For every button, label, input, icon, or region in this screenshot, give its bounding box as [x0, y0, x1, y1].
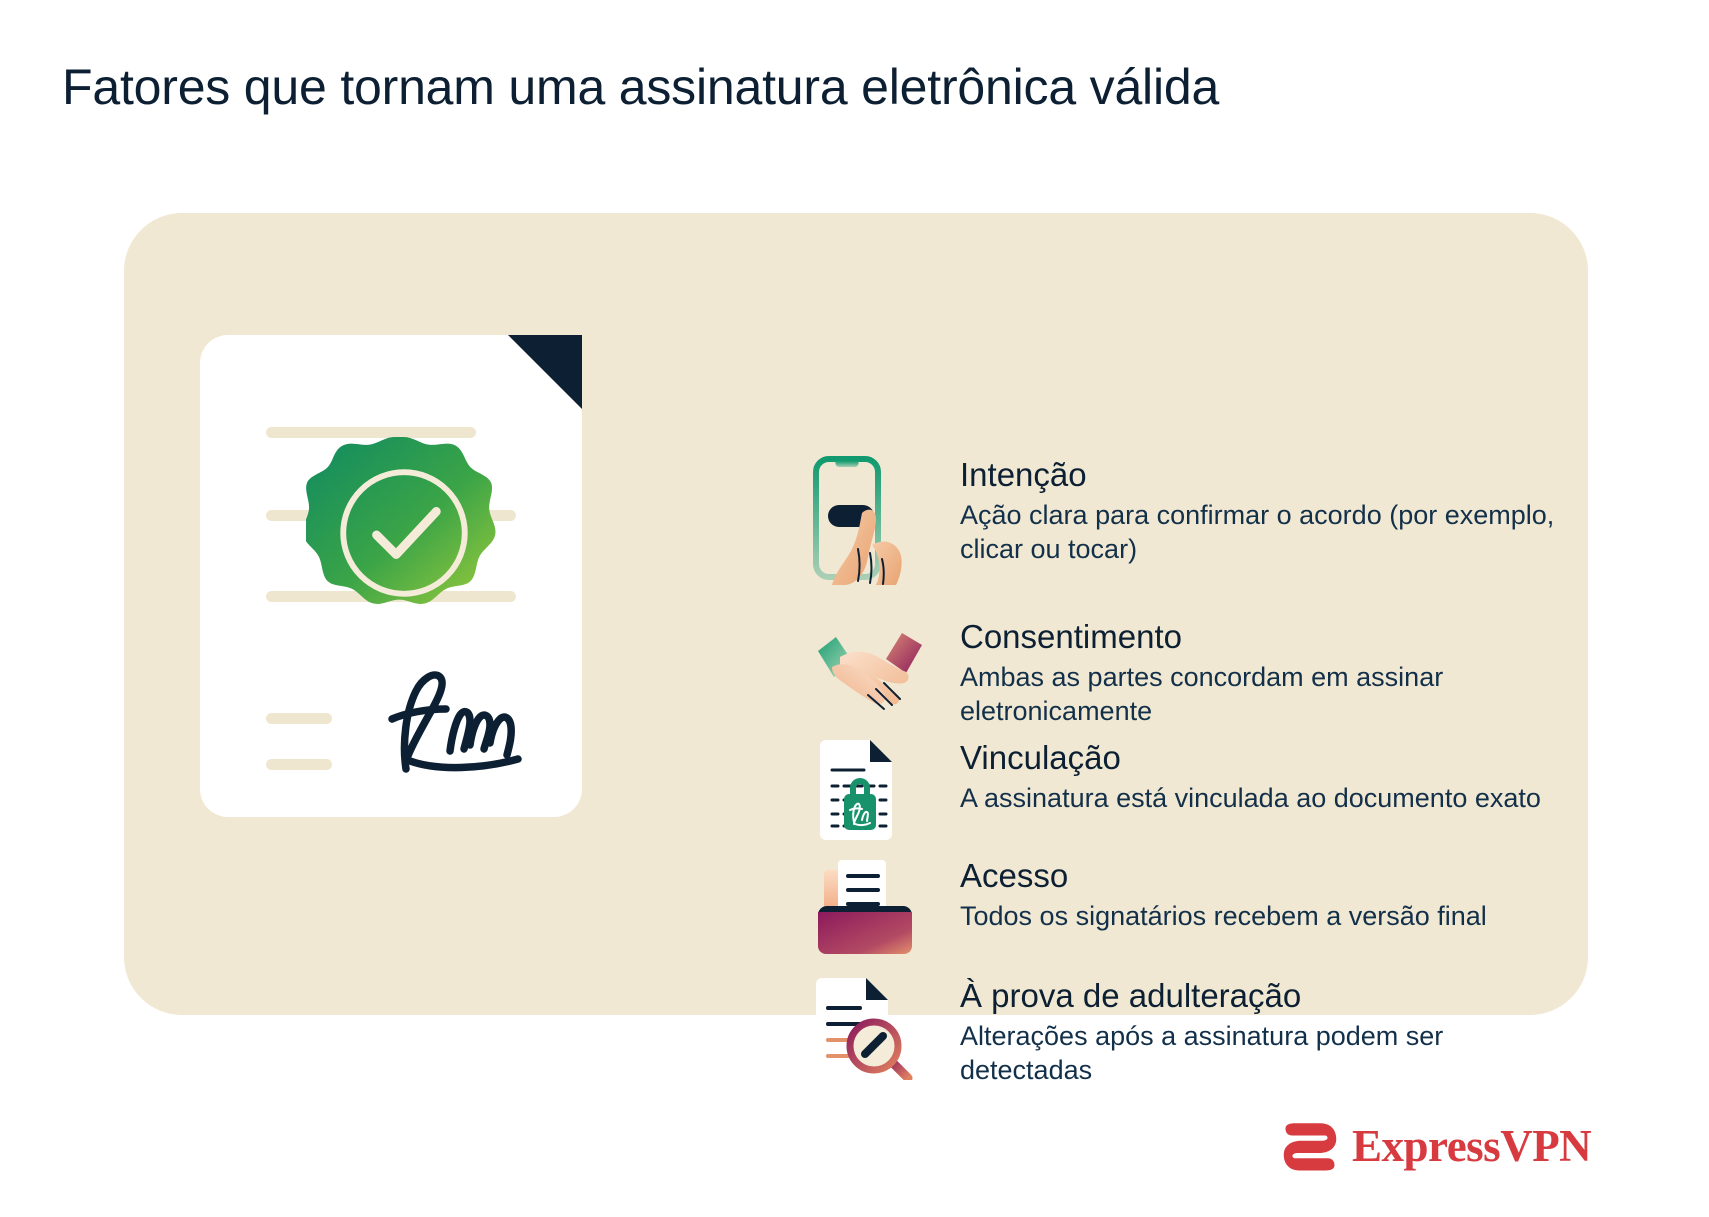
page-title: Fatores que tornam uma assinatura eletrô… — [62, 58, 1219, 116]
expressvpn-wordmark: ExpressVPN — [1352, 1124, 1591, 1169]
feature-item-acesso: Acesso Todos os signatários recebem a ve… — [810, 854, 1590, 964]
feature-title: À prova de adulteração — [960, 978, 1590, 1015]
feature-item-a-prova-de-adulteracao: À prova de adulteração Alterações após a… — [810, 974, 1590, 1087]
feature-item-consentimento: Consentimento Ambas as partes concordam … — [810, 615, 1590, 728]
feature-title: Acesso — [960, 858, 1590, 895]
feature-description: A assinatura está vinculada ao documento… — [960, 781, 1560, 815]
feature-description: Todos os signatários recebem a versão fi… — [960, 899, 1560, 933]
folder-documents-icon — [810, 854, 960, 964]
document-text-line — [266, 759, 332, 770]
feature-title: Vinculação — [960, 740, 1590, 777]
document-lock-icon — [810, 736, 960, 846]
feature-title: Consentimento — [960, 619, 1590, 656]
document-magnifier-icon — [810, 974, 960, 1084]
feature-description: Ação clara para confirmar o acordo (por … — [960, 498, 1560, 566]
handwritten-signature-icon — [376, 665, 536, 775]
phone-tap-icon — [810, 453, 960, 585]
document-fold-corner-icon — [508, 335, 582, 409]
feature-list: Intenção Ação clara para confirmar o aco… — [810, 453, 1590, 1087]
expressvpn-mark-icon — [1282, 1118, 1338, 1174]
content-panel: Intenção Ação clara para confirmar o aco… — [124, 213, 1588, 1015]
handshake-icon — [810, 615, 960, 725]
feature-title: Intenção — [960, 457, 1590, 494]
feature-item-intencao: Intenção Ação clara para confirmar o aco… — [810, 453, 1590, 585]
feature-description: Ambas as partes concordam em assinar ele… — [960, 660, 1560, 728]
signed-document-illustration — [200, 335, 582, 817]
verified-seal-badge-icon — [306, 435, 502, 631]
feature-item-vinculacao: Vinculação A assinatura está vinculada a… — [810, 736, 1590, 846]
feature-description: Alterações após a assinatura podem ser d… — [960, 1019, 1560, 1087]
document-text-line — [266, 713, 332, 724]
infographic-page: Fatores que tornam uma assinatura eletrô… — [0, 0, 1709, 1217]
expressvpn-logo: ExpressVPN — [1282, 1118, 1591, 1174]
